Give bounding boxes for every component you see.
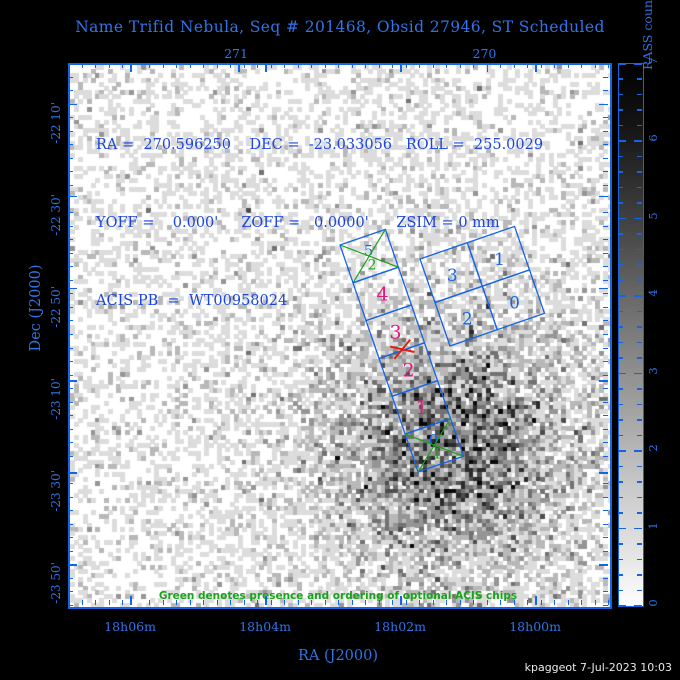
colorbar-minor-tick	[618, 249, 623, 251]
colorbar-tick-label: 0	[646, 594, 660, 612]
colorbar-minor-tick	[618, 311, 623, 313]
colorbar-minor-tick	[618, 404, 623, 406]
colorbar-minor-tick	[618, 202, 623, 204]
colorbar-minor-tick	[637, 559, 642, 561]
colorbar-minor-tick	[618, 233, 623, 235]
colorbar-minor-tick	[637, 187, 642, 189]
colorbar-tick	[618, 450, 626, 452]
colorbar-minor-tick	[637, 543, 642, 545]
colorbar-minor-tick	[618, 187, 623, 189]
colorbar-tick	[618, 63, 626, 65]
colorbar-tick	[618, 218, 626, 220]
colorbar-minor-tick	[637, 311, 642, 313]
colorbar-tick	[618, 528, 626, 530]
colorbar-tick-label: 6	[646, 129, 660, 147]
colorbar-minor-tick	[637, 466, 642, 468]
colorbar-tick	[634, 218, 642, 220]
colorbar-minor-tick	[618, 435, 623, 437]
colorbar-minor-tick	[618, 543, 623, 545]
colorbar-minor-tick	[637, 264, 642, 266]
colorbar-tick	[634, 605, 642, 607]
colorbar-minor-tick	[618, 590, 623, 592]
colorbar-minor-tick	[637, 326, 642, 328]
colorbar-minor-tick	[637, 125, 642, 127]
colorbar-minor-tick	[637, 497, 642, 499]
colorbar-minor-tick	[618, 481, 623, 483]
colorbar-minor-tick	[637, 574, 642, 576]
colorbar-tick	[618, 295, 626, 297]
colorbar-tick	[618, 140, 626, 142]
colorbar-minor-tick	[637, 481, 642, 483]
colorbar-tick-label: 4	[646, 284, 660, 302]
colorbar-minor-tick	[637, 249, 642, 251]
colorbar-minor-tick	[618, 156, 623, 158]
colorbar-tick	[634, 450, 642, 452]
colorbar-minor-tick	[618, 125, 623, 127]
colorbar-ticks: 01234567	[0, 0, 680, 680]
colorbar-minor-tick	[618, 388, 623, 390]
colorbar-minor-tick	[618, 94, 623, 96]
colorbar-minor-tick	[618, 264, 623, 266]
colorbar-minor-tick	[618, 512, 623, 514]
colorbar-minor-tick	[637, 156, 642, 158]
colorbar-tick	[634, 528, 642, 530]
colorbar-minor-tick	[618, 171, 623, 173]
colorbar-title: RASS counts	[640, 0, 655, 70]
colorbar-minor-tick	[637, 171, 642, 173]
colorbar-minor-tick	[618, 559, 623, 561]
colorbar-tick	[618, 605, 626, 607]
colorbar-tick-label: 3	[646, 362, 660, 380]
colorbar-minor-tick	[637, 419, 642, 421]
colorbar-minor-tick	[637, 202, 642, 204]
colorbar-tick	[634, 140, 642, 142]
colorbar-tick-label: 2	[646, 439, 660, 457]
colorbar-minor-tick	[637, 280, 642, 282]
colorbar-minor-tick	[637, 388, 642, 390]
colorbar-minor-tick	[637, 357, 642, 359]
colorbar-minor-tick	[637, 512, 642, 514]
colorbar-tick	[634, 373, 642, 375]
colorbar-minor-tick	[618, 497, 623, 499]
colorbar-minor-tick	[637, 404, 642, 406]
colorbar-minor-tick	[618, 419, 623, 421]
colorbar-minor-tick	[637, 109, 642, 111]
colorbar-minor-tick	[637, 94, 642, 96]
colorbar-minor-tick	[618, 357, 623, 359]
colorbar-minor-tick	[618, 78, 623, 80]
colorbar-tick-label: 5	[646, 207, 660, 225]
colorbar-minor-tick	[637, 435, 642, 437]
colorbar-minor-tick	[618, 574, 623, 576]
footer-credit: kpaggeot 7-Jul-2023 10:03	[525, 661, 672, 674]
colorbar-minor-tick	[637, 590, 642, 592]
colorbar-minor-tick	[637, 342, 642, 344]
colorbar-minor-tick	[618, 109, 623, 111]
colorbar-minor-tick	[618, 280, 623, 282]
colorbar-tick-label: 1	[646, 517, 660, 535]
colorbar-tick	[634, 295, 642, 297]
colorbar-minor-tick	[637, 78, 642, 80]
colorbar-minor-tick	[618, 326, 623, 328]
colorbar-minor-tick	[618, 466, 623, 468]
colorbar-minor-tick	[618, 342, 623, 344]
colorbar-minor-tick	[637, 233, 642, 235]
colorbar-tick	[618, 373, 626, 375]
